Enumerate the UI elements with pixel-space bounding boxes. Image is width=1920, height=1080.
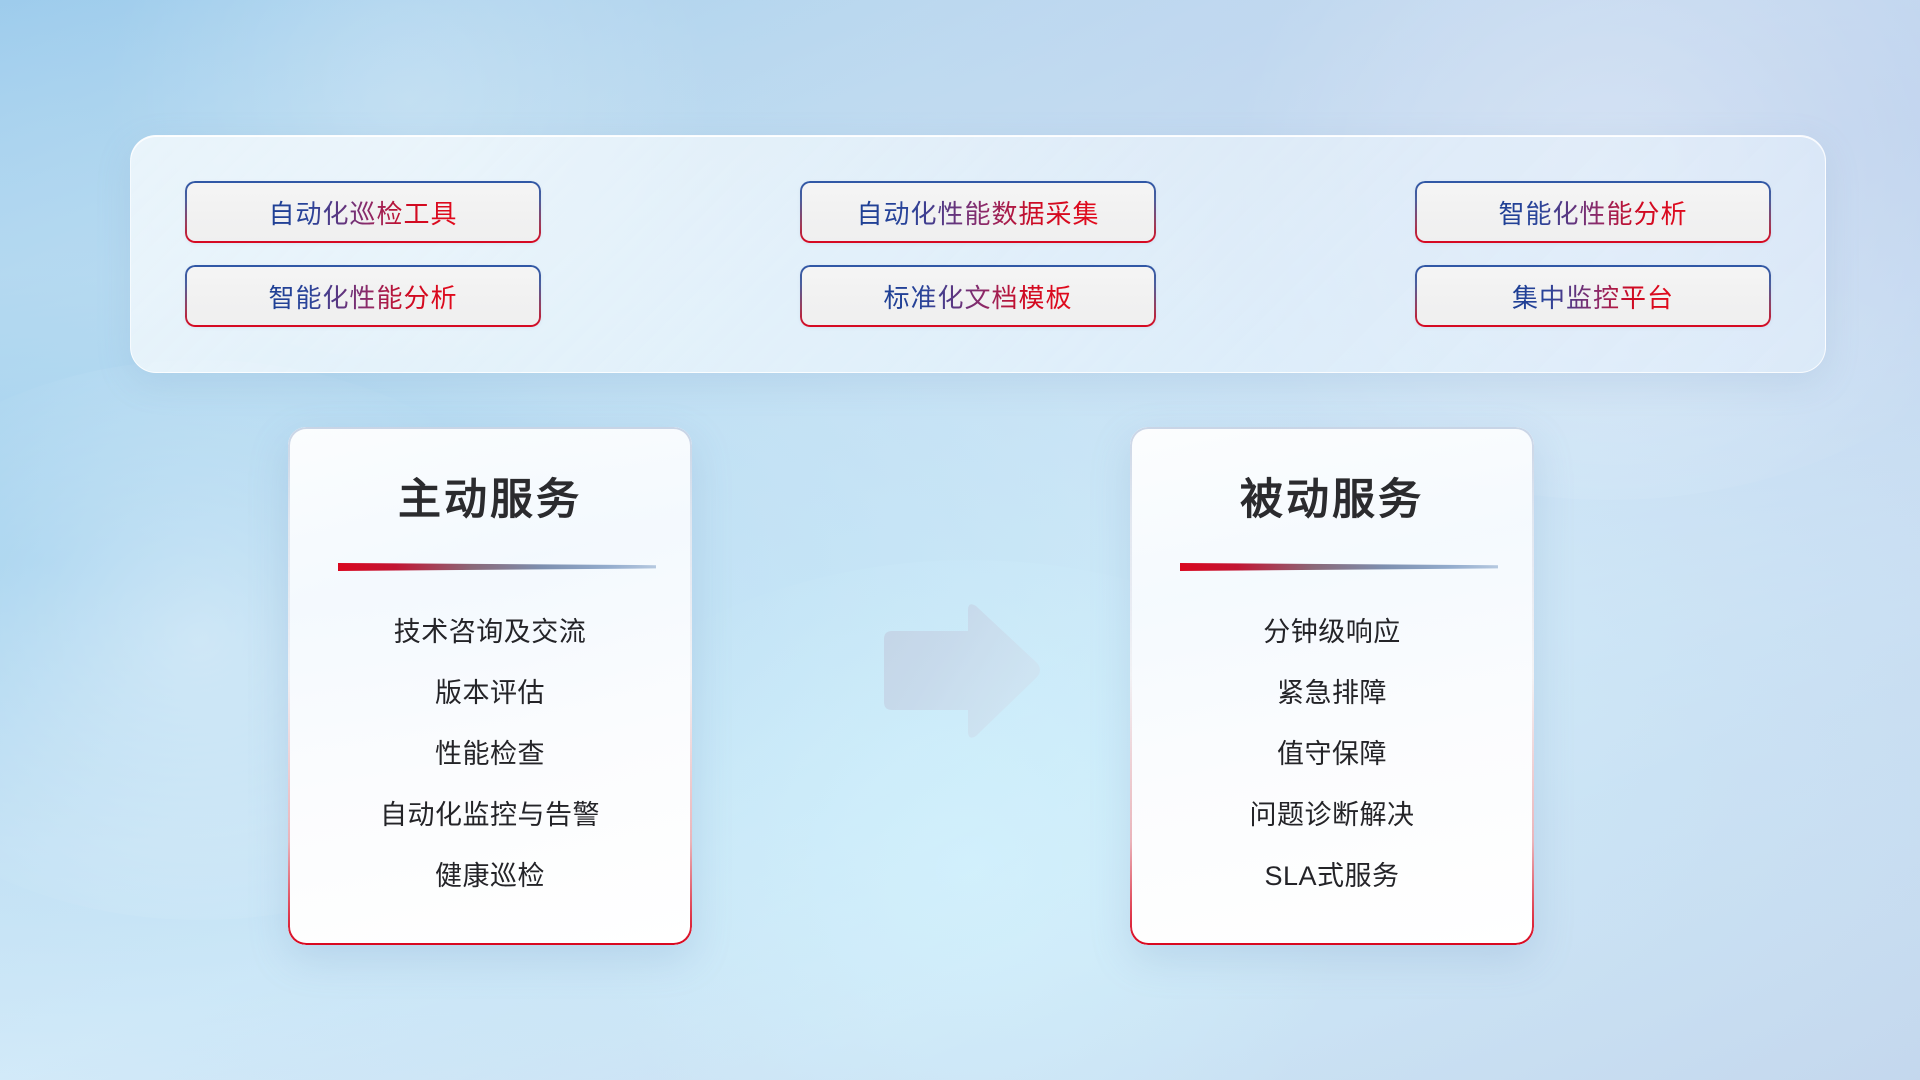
capability-column-2: 自动化性能数据采集 标准化文档模板 — [800, 181, 1156, 327]
capability-pill-label: 自动化性能数据采集 — [856, 194, 1099, 231]
list-item: 分钟级响应 — [1156, 602, 1508, 663]
list-item: 自动化监控与告警 — [314, 785, 666, 846]
card-item-list: 分钟级响应 紧急排障 值守保障 问题诊断解决 SLA式服务 — [1156, 602, 1508, 907]
capability-pill[interactable]: 标准化文档模板 — [800, 265, 1156, 327]
list-item: SLA式服务 — [1156, 846, 1508, 907]
capability-column-3: 智能化性能分析 集中监控平台 — [1415, 181, 1771, 327]
capability-pill[interactable]: 智能化性能分析 — [185, 265, 541, 327]
capability-pill[interactable]: 智能化性能分析 — [1415, 181, 1771, 243]
capability-column-1: 自动化巡检工具 智能化性能分析 — [185, 181, 541, 327]
list-item: 紧急排障 — [1156, 663, 1508, 724]
capability-pill-label: 标准化文档模板 — [883, 278, 1072, 315]
list-item: 性能检查 — [314, 724, 666, 785]
slide-canvas: 自动化巡检工具 智能化性能分析 自动化性能数据采集 标准化文档模板 智能化性能分… — [0, 0, 1920, 1080]
capability-pill-label: 集中监控平台 — [1512, 278, 1674, 315]
card-item-list: 技术咨询及交流 版本评估 性能检查 自动化监控与告警 健康巡检 — [314, 602, 666, 907]
list-item: 值守保障 — [1156, 724, 1508, 785]
capability-pill[interactable]: 自动化巡检工具 — [185, 181, 541, 243]
list-item: 问题诊断解决 — [1156, 785, 1508, 846]
list-item: 技术咨询及交流 — [314, 602, 666, 663]
capability-pill[interactable]: 自动化性能数据采集 — [800, 181, 1156, 243]
list-item: 版本评估 — [314, 663, 666, 724]
service-card-active: 主动服务 技术咨询及交流 版本评估 性能检查 — [288, 427, 692, 945]
capability-pill-label: 智能化性能分析 — [1498, 194, 1687, 231]
capability-pill-label: 自动化巡检工具 — [268, 194, 457, 231]
card-title-underline — [1180, 560, 1498, 572]
card-title: 被动服务 — [1156, 479, 1508, 522]
arrow-right-icon — [878, 600, 1042, 744]
card-title-underline — [338, 560, 656, 572]
service-card-passive: 被动服务 分钟级响应 紧急排障 值守保障 — [1130, 427, 1534, 945]
card-title: 主动服务 — [314, 479, 666, 522]
capability-panel: 自动化巡检工具 智能化性能分析 自动化性能数据采集 标准化文档模板 智能化性能分… — [130, 135, 1826, 373]
capability-pill-label: 智能化性能分析 — [268, 278, 457, 315]
capability-pill[interactable]: 集中监控平台 — [1415, 265, 1771, 327]
list-item: 健康巡检 — [314, 846, 666, 907]
